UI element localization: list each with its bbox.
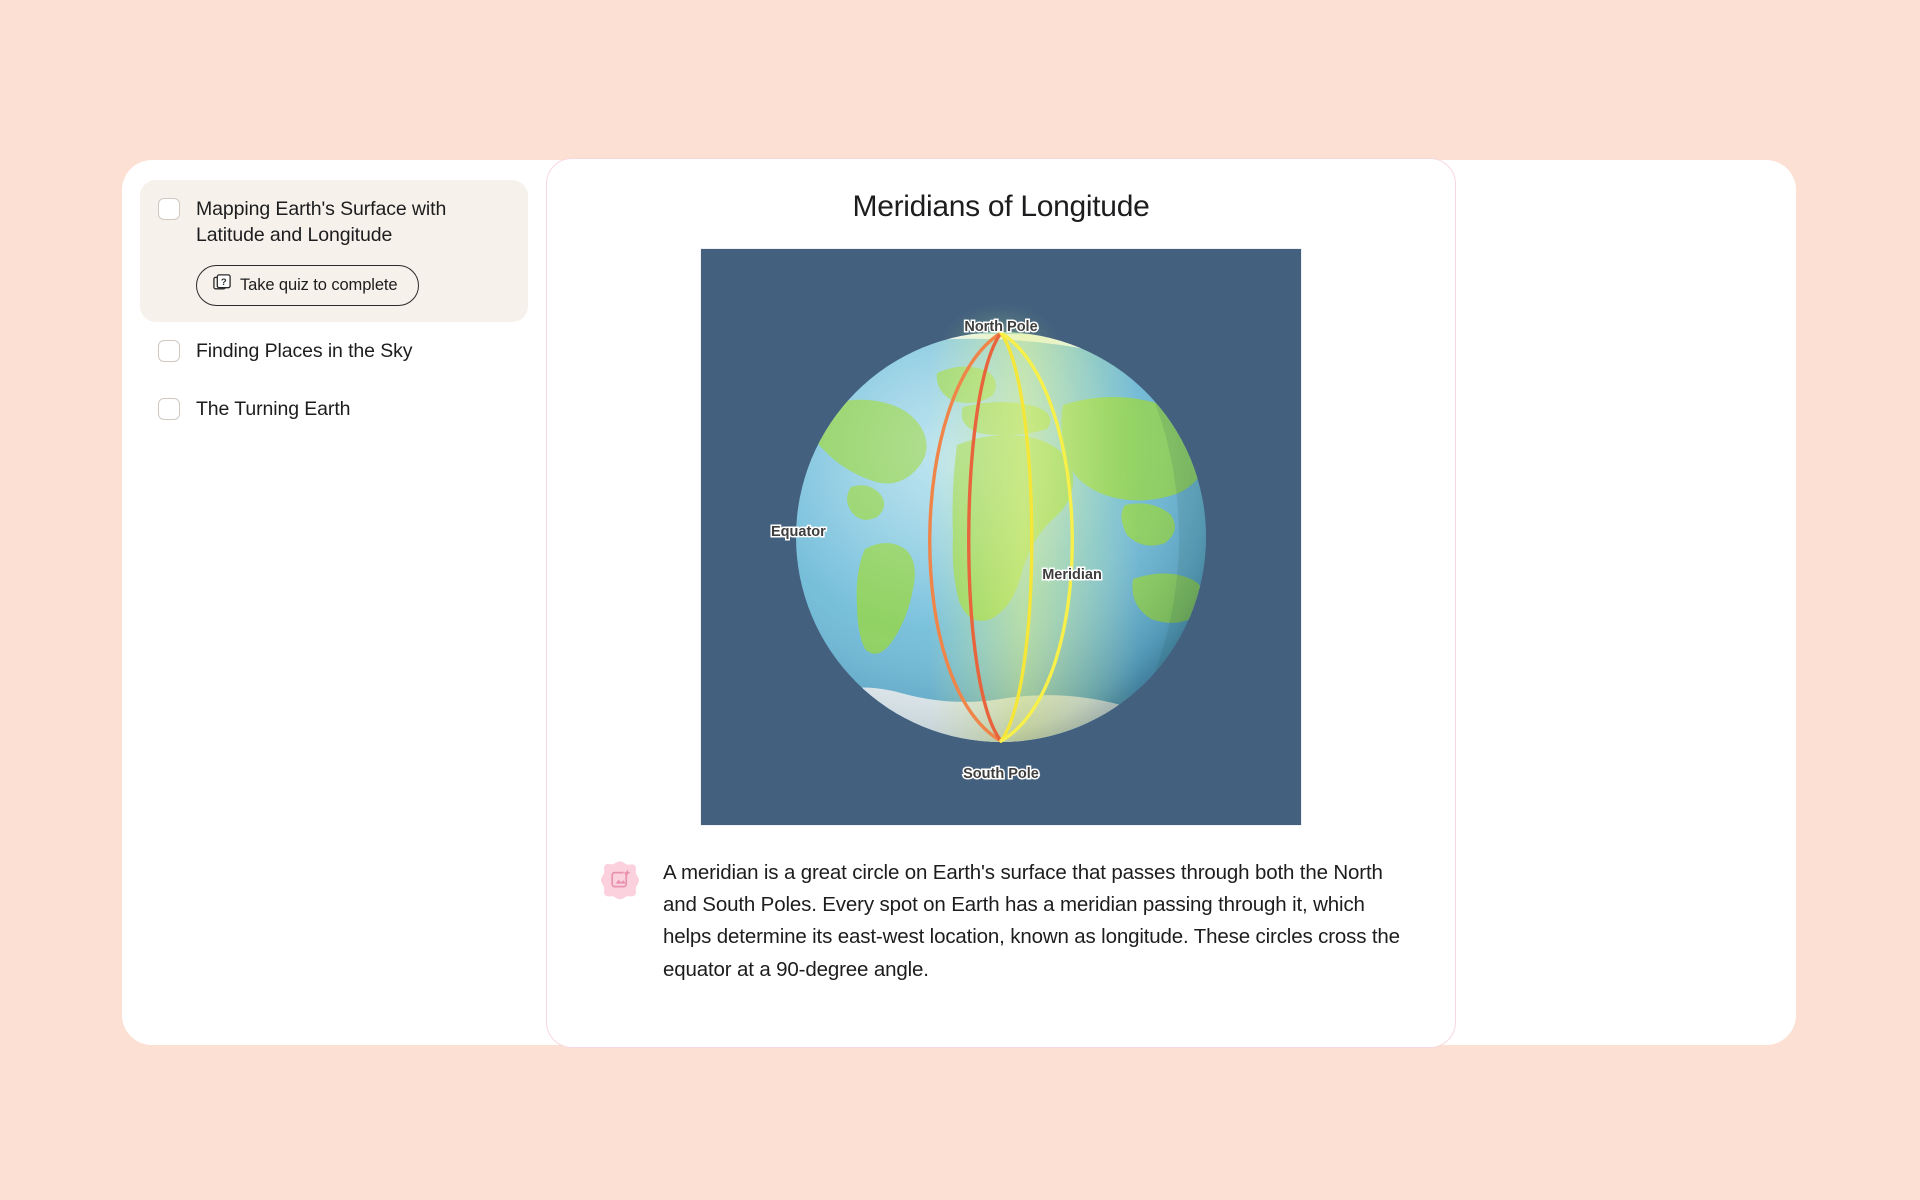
globe-figure: North Pole Equator Meridian South Pole <box>701 249 1301 825</box>
sidebar-item-finding-places-in-the-sky[interactable]: Finding Places in the Sky <box>140 322 528 380</box>
take-quiz-label: Take quiz to complete <box>240 276 398 295</box>
sidebar-item-the-turning-earth[interactable]: The Turning Earth <box>140 380 528 438</box>
globe-label-south-pole: South Pole <box>963 766 1039 782</box>
take-quiz-button[interactable]: ? Take quiz to complete <box>196 265 419 306</box>
lesson-sheet: Mapping Earth's Surface with Latitude an… <box>122 160 1796 1045</box>
sidebar-item-mapping-earths-surface[interactable]: Mapping Earth's Surface with Latitude an… <box>140 180 528 322</box>
lesson-title-0: Mapping Earth's Surface with Latitude an… <box>196 196 510 249</box>
image-sparkle-icon <box>599 859 641 906</box>
lesson-checkbox-2[interactable] <box>158 398 180 420</box>
globe-illustration: North Pole Equator Meridian South Pole <box>701 249 1301 825</box>
lesson-checkbox-1[interactable] <box>158 340 180 362</box>
page-title: Meridians of Longitude <box>836 187 1166 227</box>
lesson-body-1: Finding Places in the Sky <box>196 338 510 364</box>
lesson-content-card: Meridians of Longitude <box>546 158 1456 1048</box>
lesson-checkbox-0[interactable] <box>158 198 180 220</box>
globe-label-meridian: Meridian <box>1042 567 1102 583</box>
globe-label-equator: Equator <box>771 524 826 540</box>
lesson-title-1: Finding Places in the Sky <box>196 338 510 364</box>
lesson-caption: A meridian is a great circle on Earth's … <box>663 857 1409 987</box>
lesson-body-0: Mapping Earth's Surface with Latitude an… <box>196 196 510 306</box>
svg-text:?: ? <box>221 277 227 288</box>
globe-label-north-pole: North Pole <box>964 319 1037 335</box>
lesson-body-2: The Turning Earth <box>196 396 510 422</box>
lesson-sidebar: Mapping Earth's Surface with Latitude an… <box>122 160 546 1045</box>
quiz-card-icon: ? <box>213 274 231 297</box>
lesson-title-2: The Turning Earth <box>196 396 510 422</box>
caption-row: A meridian is a great circle on Earth's … <box>593 857 1409 987</box>
